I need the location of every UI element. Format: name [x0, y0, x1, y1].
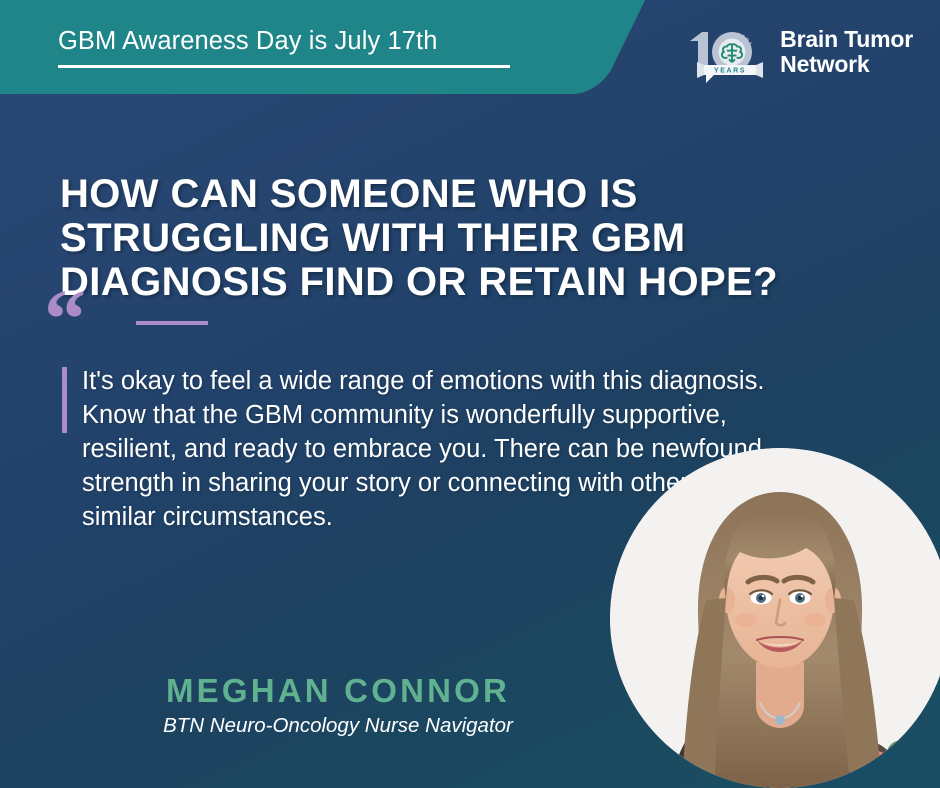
headline-question: How can someone who is struggling with t… [60, 172, 890, 304]
logo-wordmark-line2: Network [780, 52, 913, 77]
logo-wordmark-line1: Brain Tumor [780, 27, 913, 52]
svg-text:YEARS: YEARS [714, 68, 746, 75]
attribution-role: BTN Neuro-Oncology Nurse Navigator [0, 713, 676, 739]
banner-title: GBM Awareness Day is July 17th [58, 26, 528, 56]
banner-underline-rule [58, 65, 510, 68]
attribution: Meghan Connor BTN Neuro-Oncology Nurse N… [0, 672, 676, 739]
brand-logo: CELEBRATING YEARS Brain Tumor Network [684, 21, 913, 83]
portrait-illustration [610, 448, 940, 788]
quote-vertical-bar [62, 367, 67, 433]
banner-text-group: GBM Awareness Day is July 17th [58, 26, 528, 68]
quote-decoration: “ [44, 300, 844, 338]
anniversary-10-years-icon: CELEBRATING YEARS [684, 21, 770, 83]
attribution-name: Meghan Connor [0, 672, 676, 710]
quote-dash-rule [136, 321, 208, 325]
avatar [610, 448, 940, 788]
logo-wordmark: Brain Tumor Network [780, 27, 913, 77]
gbm-awareness-social-graphic: GBM Awareness Day is July 17th [0, 0, 940, 788]
quotation-mark-icon: “ [44, 278, 84, 362]
